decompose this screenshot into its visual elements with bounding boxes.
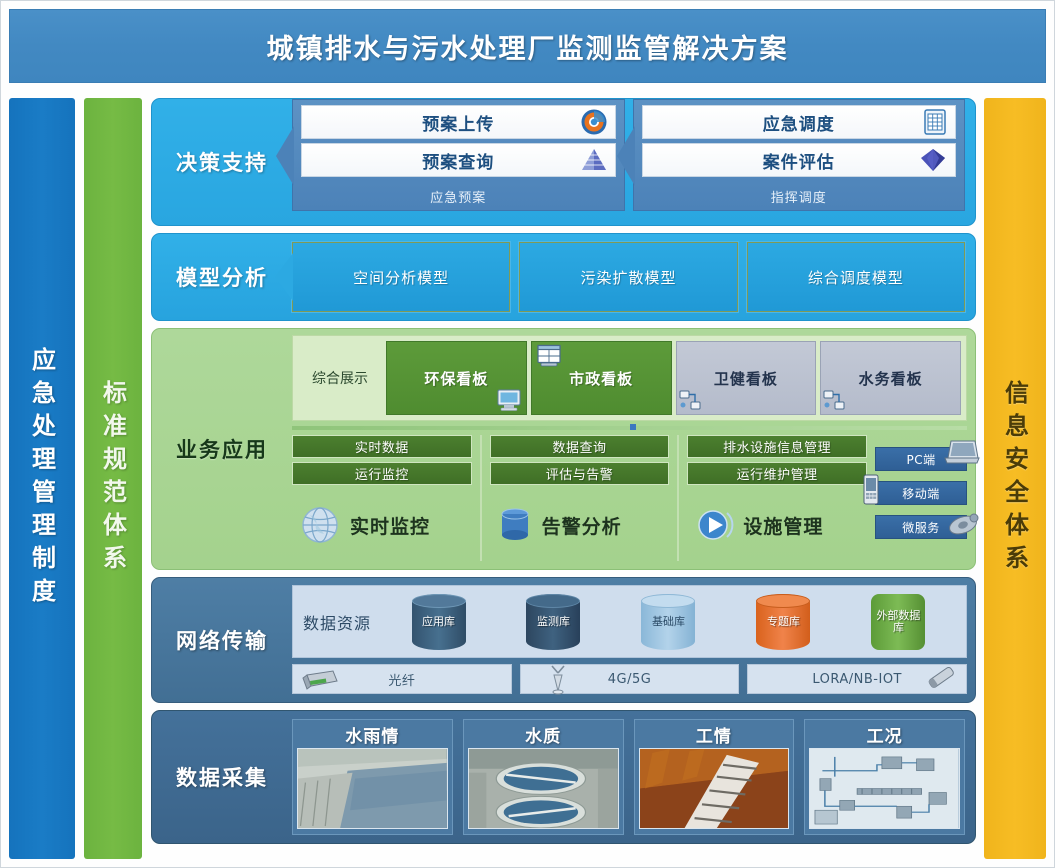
pillar-information-security: 信息安全体系	[984, 98, 1046, 859]
business-feature-alarm-analysis[interactable]: 告警分析	[490, 489, 670, 561]
layer-decision-label: 决策支持	[152, 147, 292, 177]
fiber-switch-icon	[301, 667, 341, 693]
decision-item-plan-query[interactable]: 预案查询	[301, 143, 616, 177]
page-title-bar: 城镇排水与污水处理厂监测监管解决方案	[9, 9, 1046, 83]
antenna-icon	[545, 663, 571, 695]
business-cell-alarm: 数据查询 评估与告警 告警分析	[490, 435, 680, 561]
business-feature-label: 告警分析	[542, 512, 622, 539]
laptop-icon	[944, 438, 980, 466]
business-cell-monitoring: 实时数据 运行监控	[292, 435, 482, 561]
database-label: 应用库	[422, 616, 455, 628]
board-label: 市政看板	[569, 368, 633, 389]
database-application[interactable]: 应用库	[412, 594, 466, 650]
decision-group-caption: 指挥调度	[642, 187, 957, 208]
decision-item-label: 预案查询	[422, 148, 494, 173]
biz-pill-operation-maintenance[interactable]: 运行维护管理	[687, 462, 867, 485]
business-feature-realtime-monitoring[interactable]: 实时监控	[292, 489, 472, 561]
phone-icon	[860, 474, 882, 506]
pyramid-icon	[581, 148, 607, 172]
board-label: 水务看板	[859, 368, 923, 389]
device-column: PC端 移动端	[875, 435, 967, 561]
sensor-icon	[922, 661, 962, 695]
biz-pill-drainage-facility-info[interactable]: 排水设施信息管理	[687, 435, 867, 458]
business-cell-facility: 排水设施信息管理 运行维护管理 设施管理	[687, 435, 867, 561]
gear-icon	[946, 510, 980, 538]
pipeline-photo	[639, 748, 790, 829]
decision-item-label: 预案上传	[422, 110, 494, 135]
divider	[292, 426, 967, 430]
database-monitoring[interactable]: 监测库	[526, 594, 580, 650]
network-icon	[823, 390, 845, 410]
architecture-diagram: 城镇排水与污水处理厂监测监管解决方案 应急处理管理制度 标准规范体系 信息安全体…	[0, 0, 1055, 868]
grid-table-icon	[923, 109, 947, 135]
monitor-icon	[496, 388, 522, 412]
decision-group-command-dispatch: 应急调度	[633, 99, 966, 211]
scada-photo	[809, 748, 960, 829]
page-title: 城镇排水与污水处理厂监测监管解决方案	[267, 27, 789, 66]
layer-network-label: 网络传输	[152, 578, 292, 702]
data-card-operating-condition[interactable]: 工况	[804, 719, 965, 835]
layer-model-label: 模型分析	[152, 262, 292, 292]
network-icon	[679, 390, 701, 410]
pillar-emergency-management: 应急处理管理制度	[9, 98, 75, 859]
device-microservice[interactable]: 微服务	[875, 515, 967, 539]
clarifier-photo	[468, 748, 619, 829]
data-card-hydrology[interactable]: 水雨情	[292, 719, 453, 835]
data-resources-bar: 数据资源 应用库 监测库	[292, 585, 967, 658]
layer-stack: 决策支持 预案上传	[151, 98, 976, 859]
board-environment[interactable]: 环保看板	[386, 341, 527, 415]
database-external[interactable]: 外部数据库	[871, 594, 925, 650]
device-mobile[interactable]: 移动端	[875, 481, 967, 505]
database-label: 专题库	[767, 616, 800, 628]
device-label: 微服务	[902, 519, 940, 536]
device-label: 移动端	[902, 485, 940, 502]
biz-pill-data-query[interactable]: 数据查询	[490, 435, 670, 458]
decision-item-label: 应急调度	[763, 110, 835, 135]
play-circle-icon	[693, 504, 735, 546]
data-card-title: 工况	[805, 720, 964, 748]
diamond-icon	[919, 147, 947, 173]
biz-pill-evaluation-alarm[interactable]: 评估与告警	[490, 462, 670, 485]
database-icon	[496, 504, 534, 546]
database-thematic[interactable]: 专题库	[756, 594, 810, 650]
board-municipal[interactable]: 市政看板	[531, 341, 672, 415]
layer-business-label: 业务应用	[152, 329, 292, 569]
biz-pill-realtime-data[interactable]: 实时数据	[292, 435, 472, 458]
board-label: 环保看板	[424, 368, 488, 389]
decision-item-case-evaluation[interactable]: 案件评估	[642, 143, 957, 177]
device-label: PC端	[906, 451, 935, 468]
database-label: 外部数据库	[871, 610, 925, 634]
pillar-standards-system: 标准规范体系	[84, 98, 142, 859]
layer-data-label: 数据采集	[152, 711, 292, 843]
data-card-title: 工情	[635, 720, 794, 748]
data-resources-label: 数据资源	[303, 610, 371, 634]
comprehensive-display-row: 综合展示 环保看板 市政看板	[292, 335, 967, 421]
network-link-cellular[interactable]: 4G/5G	[520, 664, 740, 694]
layer-data-acquisition: 数据采集 水雨情	[151, 710, 976, 844]
business-feature-label: 设施管理	[743, 512, 823, 539]
device-pc[interactable]: PC端	[875, 447, 967, 471]
channel-photo	[297, 748, 448, 829]
model-box-pollution[interactable]: 污染扩散模型	[519, 242, 737, 312]
decision-item-emergency-dispatch[interactable]: 应急调度	[642, 105, 957, 139]
database-label: 监测库	[537, 616, 570, 628]
board-label: 卫健看板	[714, 368, 778, 389]
network-link-label: 4G/5G	[608, 672, 652, 687]
board-health[interactable]: 卫健看板	[676, 341, 817, 415]
database-basic[interactable]: 基础库	[641, 594, 695, 650]
model-box-dispatch[interactable]: 综合调度模型	[747, 242, 965, 312]
comprehensive-display-label: 综合展示	[298, 368, 382, 388]
biz-pill-operation-monitoring[interactable]: 运行监控	[292, 462, 472, 485]
board-water-affairs[interactable]: 水务看板	[820, 341, 961, 415]
database-label: 基础库	[652, 616, 685, 628]
lifebuoy-icon	[581, 109, 607, 135]
window-icon	[536, 344, 562, 368]
layer-network-transmission: 网络传输 数据资源 应用库 监测库	[151, 577, 976, 703]
decision-group-caption: 应急预案	[301, 187, 616, 208]
layer-business-application: 业务应用 综合展示 环保看板	[151, 328, 976, 570]
business-feature-label: 实时监控	[350, 512, 430, 539]
network-link-lora[interactable]: LORA/NB-IOT	[747, 664, 967, 694]
decision-item-label: 案件评估	[763, 148, 835, 173]
business-feature-facility-management[interactable]: 设施管理	[687, 489, 867, 561]
data-card-title: 水质	[464, 720, 623, 748]
data-card-project-status[interactable]: 工情	[634, 719, 795, 835]
data-card-water-quality[interactable]: 水质	[463, 719, 624, 835]
network-link-label: LORA/NB-IOT	[812, 672, 902, 687]
model-box-spatial[interactable]: 空间分析模型	[292, 242, 510, 312]
network-link-label: 光纤	[388, 670, 415, 689]
decision-group-emergency-plan: 预案上传	[292, 99, 625, 211]
decision-item-plan-upload[interactable]: 预案上传	[301, 105, 616, 139]
layer-decision-support: 决策支持 预案上传	[151, 98, 976, 226]
data-card-title: 水雨情	[293, 720, 452, 748]
network-link-fiber[interactable]: 光纤	[292, 664, 512, 694]
layer-model-analysis: 模型分析 空间分析模型 污染扩散模型 综合调度模型	[151, 233, 976, 321]
globe-icon	[298, 503, 342, 547]
